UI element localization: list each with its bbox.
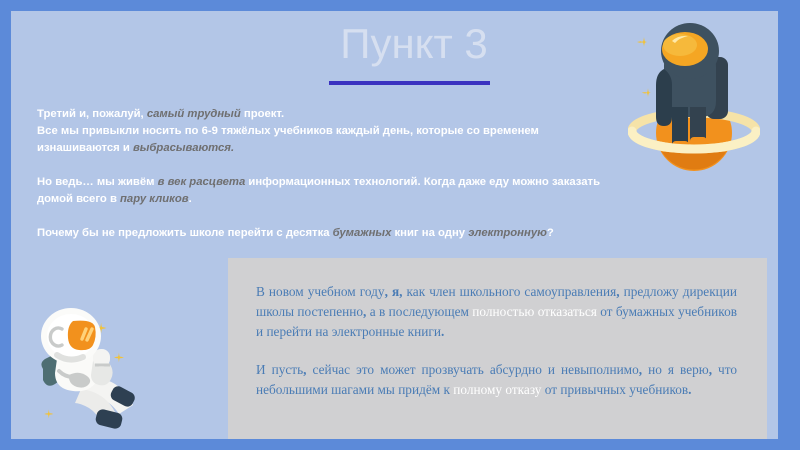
quote-run-bold: . <box>441 324 444 339</box>
page-title: Пункт 3 <box>329 23 499 64</box>
quote-text-body: В новом учебном году, я, как член школьн… <box>228 258 767 400</box>
quote-run: В новом учебном году <box>256 284 385 299</box>
quote-run-bold: , <box>709 362 718 377</box>
quote-run-highlight: полностью отказаться <box>472 304 597 319</box>
body-run-emphasis: бумажных <box>333 227 392 239</box>
body-run: Все мы привыкли носить по 6-9 тяжёлых уч… <box>37 125 539 154</box>
body-run-emphasis: электронную <box>468 227 547 239</box>
slide-title-block: Пункт 3 <box>329 23 499 64</box>
quote-run: а в последующем <box>370 304 473 319</box>
body-paragraph-3: Почему бы не предложить школе перейти с … <box>37 225 617 242</box>
title-underline-rule <box>329 81 490 85</box>
quote-run-highlight: полному отказу <box>453 382 541 397</box>
quote-run: от привычных учебников <box>541 382 688 397</box>
body-run: книг на одну <box>391 227 468 239</box>
quote-run-bold: , <box>616 284 623 299</box>
quote-run-bold: , я, <box>385 284 407 299</box>
quote-run: как член школьного самоуправления <box>407 284 617 299</box>
body-run: Третий и, пожалуй, <box>37 108 147 120</box>
astronaut-on-planet-illustration <box>628 15 760 193</box>
quote-run: сейчас это может прозвучать абсурдно и н… <box>313 362 639 377</box>
body-copy: Третий и, пожалуй, самый трудный проект.… <box>37 106 617 242</box>
quote-panel: В новом учебном году, я, как член школьн… <box>228 258 767 439</box>
quote-run-bold: , <box>303 362 312 377</box>
body-run-emphasis: в век расцвета <box>158 176 246 188</box>
body-run: проект. <box>241 108 284 120</box>
body-paragraph-1: Третий и, пожалуй, самый трудный проект.… <box>37 106 617 157</box>
quote-run-bold: . <box>688 382 691 397</box>
quote-run: но я верю <box>648 362 709 377</box>
four-pointed-star-icon <box>637 37 647 47</box>
body-run-emphasis: самый трудный <box>147 108 241 120</box>
quote-run-bold: , <box>639 362 648 377</box>
floating-astronaut-illustration <box>29 303 179 439</box>
body-run-emphasis: выбрасываются. <box>133 142 234 154</box>
quote-paragraph-2: И пусть, сейчас это может прозвучать абс… <box>256 360 737 400</box>
body-run: Почему бы не предложить школе перейти с … <box>37 227 333 239</box>
body-run: . <box>189 193 192 205</box>
body-run: ? <box>547 227 554 239</box>
quote-run-bold: , <box>363 304 370 319</box>
body-paragraph-2: Но ведь… мы живём в век расцвета информа… <box>37 174 617 208</box>
body-run: Но ведь… мы живём <box>37 176 158 188</box>
body-run-emphasis: пару кликов <box>120 193 189 205</box>
quote-run: И пусть <box>256 362 303 377</box>
slide-canvas: Пункт 3 <box>0 0 800 450</box>
slide-inner-panel: Пункт 3 <box>11 11 778 439</box>
quote-paragraph-1: В новом учебном году, я, как член школьн… <box>256 282 737 342</box>
